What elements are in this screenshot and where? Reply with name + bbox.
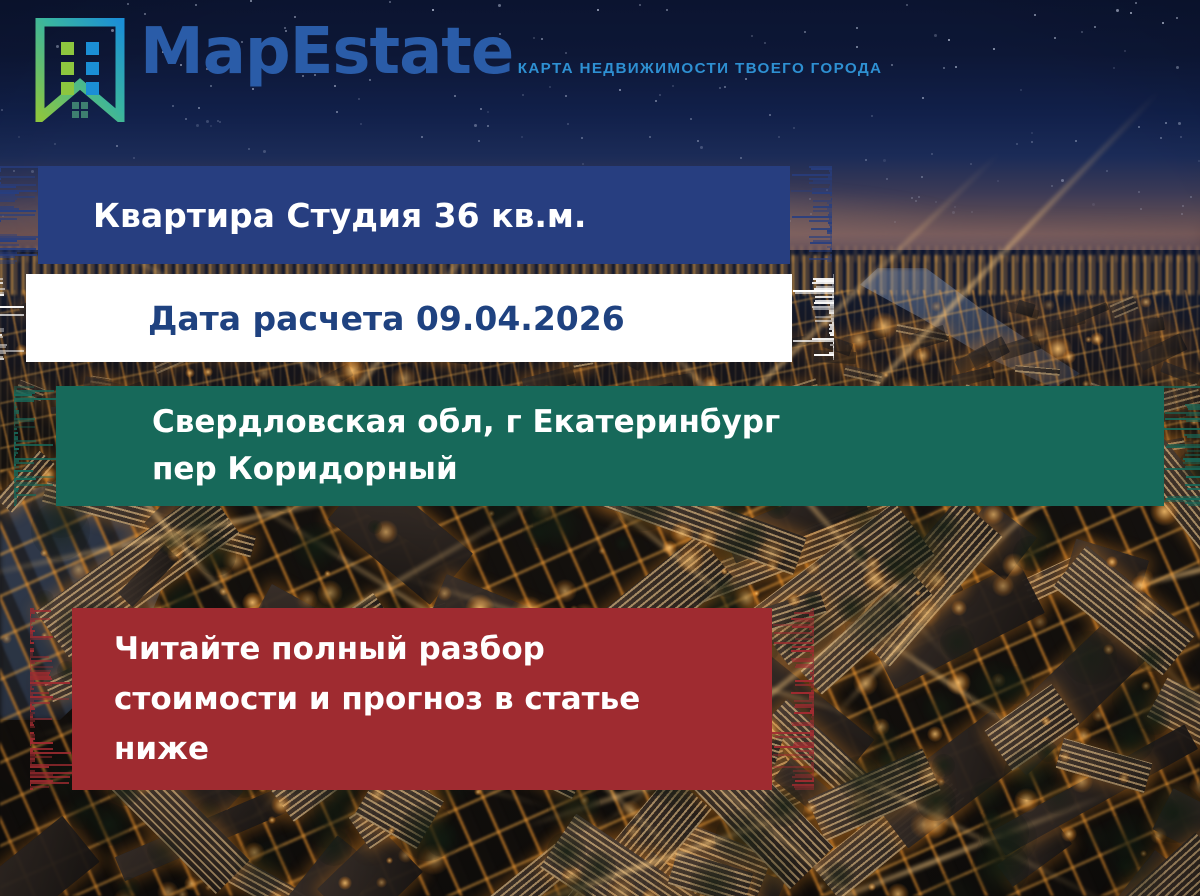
banner-text: Читайте полный разбор стоимости и прогно… (72, 624, 772, 775)
brand-tagline: КАРТА НЕДВИЖИМОСТИ ТВОЕГО ГОРОДА (518, 60, 883, 77)
banner-right-edge (772, 608, 814, 790)
cta-line-2: стоимости и прогноз в статье (72, 674, 772, 724)
cta-line-3: ниже (72, 724, 772, 774)
banner-right-edge (792, 274, 834, 362)
banner-text: Свердловская обл, г Екатеринбург пер Кор… (56, 399, 1164, 493)
banner-left-edge (0, 166, 38, 264)
banner-cta: Читайте полный разбор стоимости и прогно… (72, 608, 772, 790)
banner-property-title: Квартира Студия 36 кв.м. (38, 166, 790, 264)
calculation-date-line: Дата расчета 09.04.2026 (26, 299, 792, 338)
bookmark-building-icon (34, 18, 126, 122)
cta-line-1: Читайте полный разбор (72, 624, 772, 674)
banner-text: Квартира Студия 36 кв.м. (38, 196, 790, 235)
banner-left-edge (30, 608, 72, 790)
banner-left-edge (14, 386, 56, 506)
banner-right-edge (1164, 386, 1200, 506)
brand-name: MapEstate (140, 15, 513, 89)
logo-wordmark: MapEstate КАРТА НЕДВИЖИМОСТИ ТВОЕГО ГОРО… (140, 18, 882, 83)
address-line-2: пер Коридорный (56, 446, 1164, 493)
banner-right-edge (790, 166, 832, 264)
banner-calculation-date: Дата расчета 09.04.2026 (26, 274, 792, 362)
banner-left-edge (0, 274, 26, 362)
banner-address: Свердловская обл, г Екатеринбург пер Кор… (56, 386, 1164, 506)
property-title-line: Квартира Студия 36 кв.м. (38, 196, 790, 235)
address-line-1: Свердловская обл, г Екатеринбург (56, 399, 1164, 446)
logo[interactable]: MapEstate КАРТА НЕДВИЖИМОСТИ ТВОЕГО ГОРО… (34, 18, 882, 122)
banner-text: Дата расчета 09.04.2026 (26, 299, 792, 338)
